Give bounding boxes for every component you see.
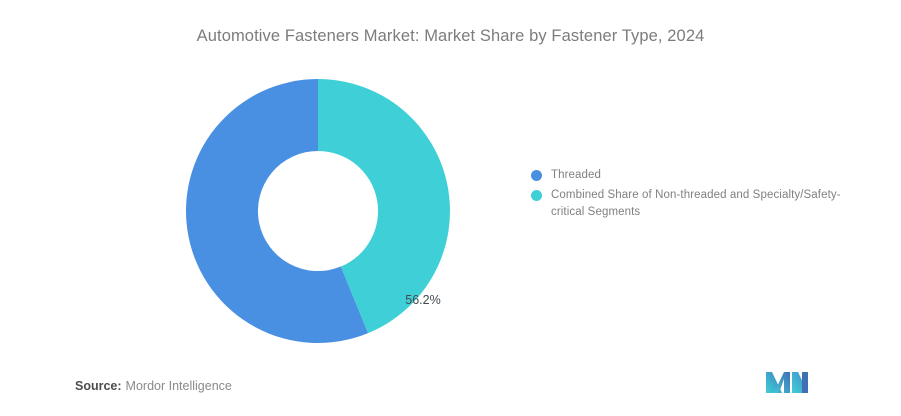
donut-chart: 56.2% [186, 79, 450, 343]
source-value: Mordor Intelligence [126, 379, 232, 393]
donut-chart-svg [186, 79, 450, 343]
legend-swatch-icon-combined-share [531, 190, 542, 201]
chart-page: Automotive Fasteners Market: Market Shar… [0, 0, 901, 416]
logo-mark-svg [766, 370, 808, 394]
mordor-intelligence-logo-icon [766, 370, 808, 394]
page-title: Automotive Fasteners Market: Market Shar… [0, 26, 901, 46]
legend-label-combined-share: Combined Share of Non-threaded and Speci… [551, 187, 861, 221]
legend-item-threaded[interactable]: Threaded [531, 167, 861, 184]
source-attribution: Source:Mordor Intelligence [75, 378, 232, 394]
chart-legend: Threaded Combined Share of Non-threaded … [531, 167, 861, 224]
legend-label-threaded: Threaded [551, 167, 861, 184]
legend-swatch-icon-threaded [531, 170, 542, 181]
source-label: Source: [75, 379, 122, 393]
legend-item-combined-share[interactable]: Combined Share of Non-threaded and Speci… [531, 187, 861, 221]
